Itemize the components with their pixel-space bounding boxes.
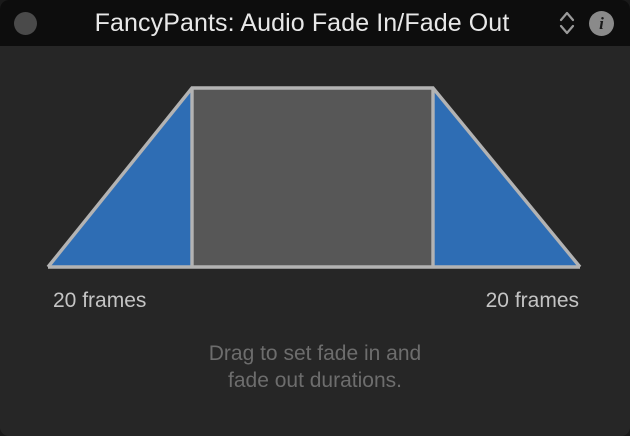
fade-envelope-graph[interactable]	[0, 46, 630, 276]
info-glyph: i	[599, 11, 604, 36]
window-titlebar: FancyPants: Audio Fade In/Fade Out i	[0, 0, 630, 46]
fade-out-duration-label: 20 frames	[486, 289, 579, 313]
info-icon[interactable]: i	[589, 11, 614, 36]
hint-line-2: fade out durations.	[0, 367, 630, 394]
hint-text: Drag to set fade in and fade out duratio…	[0, 340, 630, 394]
disclosure-dot-icon[interactable]	[14, 12, 37, 35]
hint-line-1: Drag to set fade in and	[0, 340, 630, 367]
page-title: FancyPants: Audio Fade In/Fade Out	[47, 0, 557, 46]
fade-in-duration-label: 20 frames	[53, 289, 146, 313]
chevron-up-down-icon[interactable]	[557, 8, 577, 38]
fade-inspector-window: FancyPants: Audio Fade In/Fade Out i	[0, 0, 630, 436]
fade-editor-canvas[interactable]: 20 frames 20 frames Drag to set fade in …	[0, 46, 630, 436]
sustain-region	[192, 88, 433, 267]
